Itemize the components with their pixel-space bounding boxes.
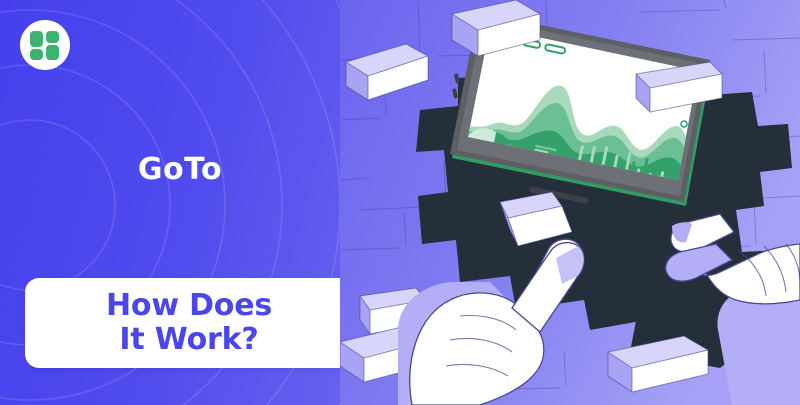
headline-card: How Does It Work? (25, 278, 353, 368)
brand-logo[interactable] (20, 20, 70, 70)
headline-line-2: It Work? (106, 323, 272, 357)
hero-illustration (340, 0, 800, 405)
headline-text: How Does It Work? (106, 289, 272, 356)
illustration-svg (340, 0, 800, 405)
poster-canvas: GoTo How Does It Work? (0, 0, 800, 405)
headline-line-1: How Does (106, 289, 272, 323)
four-squares-logo-icon (30, 30, 60, 60)
